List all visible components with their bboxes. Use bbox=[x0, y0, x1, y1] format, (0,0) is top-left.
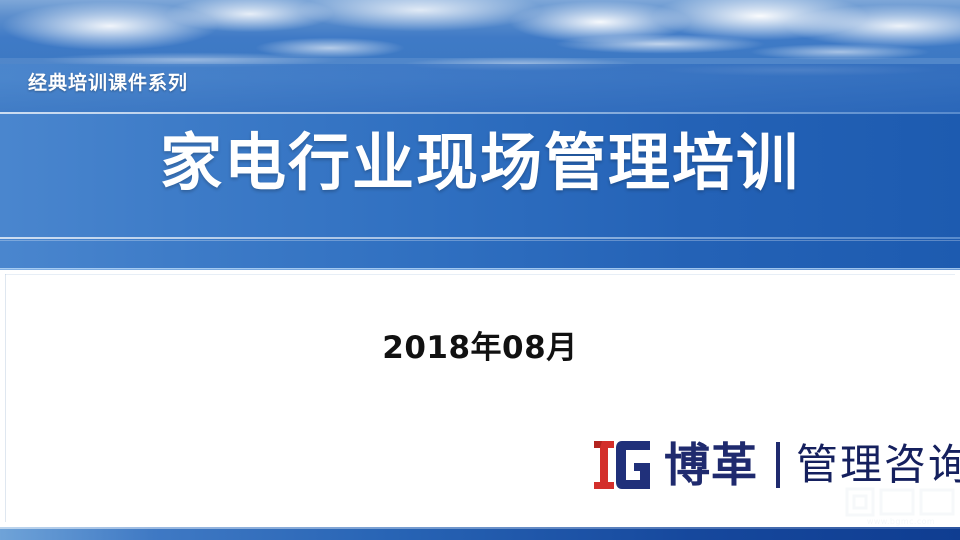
watermark-text: www.bgmc.com bbox=[845, 517, 957, 526]
body-top-hairline bbox=[5, 274, 955, 275]
page-title: 家电行业现场管理培训 bbox=[0, 128, 960, 198]
title-band-top-rule bbox=[0, 112, 960, 114]
logo-separator bbox=[776, 442, 780, 488]
presentation-title-slide: 经典培训课件系列 家电行业现场管理培训 2018年08月 博革 管理咨询 bbox=[0, 0, 960, 540]
bottom-accent-bar-highlight bbox=[0, 527, 960, 529]
title-band-bottom-rule-secondary bbox=[0, 240, 960, 241]
title-band-bottom-rule bbox=[0, 237, 960, 239]
bg-monogram-icon bbox=[592, 437, 654, 493]
date-label: 2018年08月 bbox=[0, 322, 960, 367]
series-label: 经典培训课件系列 bbox=[28, 68, 188, 95]
body-left-hairline bbox=[5, 274, 6, 522]
logo-wordmark: 博革 bbox=[664, 442, 758, 488]
logo-tagline: 管理咨询 bbox=[796, 443, 960, 487]
